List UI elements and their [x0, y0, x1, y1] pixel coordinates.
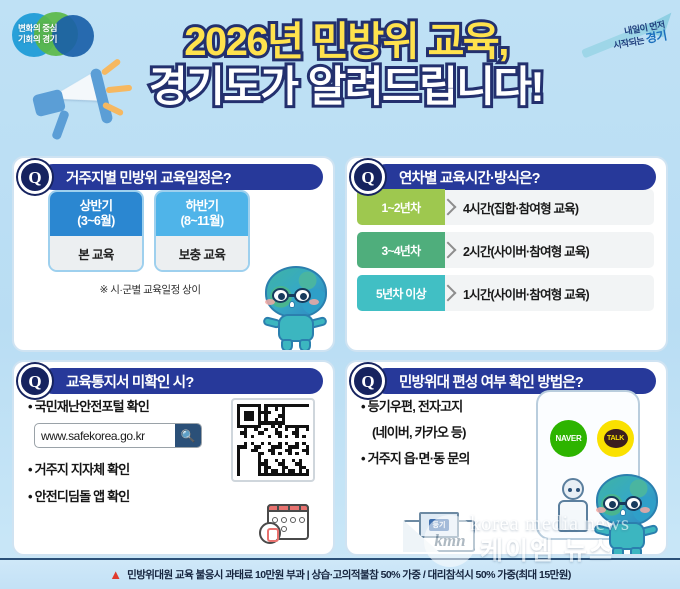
mascot-leg: [630, 547, 642, 556]
question-badge-icon: Q: [351, 160, 385, 194]
mascot-glasses-right: [294, 288, 311, 303]
page-title: 2026년 민방위 교육, 경기도가 알려드립니다!: [118, 22, 574, 112]
mascot-character: [261, 266, 331, 352]
year-tag: 5년차 이상: [357, 275, 445, 311]
logo-text-line2: 기회의 경기: [18, 34, 57, 45]
logo-circle-navy: [52, 15, 94, 57]
year-row: 1~2년차 4시간(집합·참여형 교육): [357, 189, 654, 225]
term-box-second-half: 하반기 (8~11월) 보충 교육: [154, 190, 250, 272]
header: 변화의 중심 기회의 경기 내일이 먼저 시작되는 경기: [0, 0, 680, 150]
mascot-glasses-left: [603, 496, 620, 511]
term-period: (3~6월): [77, 214, 114, 229]
card-note: ※ 시·군별 교육일정 상이: [24, 282, 252, 297]
mascot-leg: [299, 339, 311, 352]
megaphone-icon: [18, 62, 133, 140]
mascot-glasses-left: [272, 288, 289, 303]
question-badge-icon: Q: [18, 160, 52, 194]
title-line-2: 경기도가 알려드립니다!: [118, 66, 574, 108]
mascot-leg: [281, 339, 293, 352]
megaphone-handle: [51, 109, 70, 140]
card-title: 연차별 교육시간·방식은?: [399, 167, 540, 188]
year-desc: 2시간(사이버·참여형 교육): [445, 232, 654, 268]
naver-app-icon: NAVER: [550, 420, 587, 457]
year-desc: 1시간(사이버·참여형 교육): [445, 275, 654, 311]
mascot-blush: [309, 299, 319, 305]
year-tag: 3~4년차: [357, 232, 445, 268]
year-desc: 4시간(집합·참여형 교육): [445, 189, 654, 225]
gyeonggi-slogan: 내일이 먼저 시작되는 경기: [562, 6, 672, 64]
footer-text: 민방위대원 교육 불응시 과태료 10만원 부과 | 상습·고의적불참 50% …: [127, 567, 571, 582]
mascot-glasses-right: [625, 496, 642, 511]
app-icon-row: NAVER TALK: [550, 420, 634, 457]
card-body: • 등기우편, 전자고지 (네이버, 카카오 등) • 거주지 읍·면·동 문의…: [347, 384, 666, 554]
term-period: (8~11월): [180, 214, 223, 229]
mascot-blush: [640, 507, 650, 513]
term-header: 하반기 (8~11월): [156, 192, 248, 236]
calendar-search-icon: [259, 500, 311, 544]
infographic-page: 변화의 중심 기회의 경기 내일이 먼저 시작되는 경기: [0, 0, 680, 589]
calendar-top-bar: [267, 504, 309, 512]
mascot-leg: [612, 547, 624, 556]
term-name: 상반기: [80, 199, 113, 214]
question-badge-label: Q: [28, 169, 41, 186]
mascot-body: [278, 314, 314, 342]
year-row: 3~4년차 2시간(사이버·참여형 교육): [357, 232, 654, 268]
question-badge-label: Q: [361, 373, 374, 390]
mascot-glasses-bridge: [288, 294, 296, 297]
question-badge-label: Q: [28, 373, 41, 390]
question-badge-icon: Q: [18, 364, 52, 398]
slogan-text: 내일이 먼저 시작되는 경기: [610, 19, 667, 51]
person-torso: [558, 500, 588, 532]
qa-card-grid: Q 거주지별 민방위 교육일정은? 상반기 (3~6월) 본 교육: [12, 156, 668, 556]
qa-card-schedule: Q 거주지별 민방위 교육일정은? 상반기 (3~6월) 본 교육: [12, 156, 335, 352]
mascot-nose: [620, 509, 626, 516]
question-badge-icon: Q: [351, 364, 385, 398]
logo-text: 변화의 중심 기회의 경기: [18, 23, 57, 45]
envelope-icon: 등기: [403, 508, 475, 552]
term-row: 상반기 (3~6월) 본 교육 하반기 (8~11월) 보충 교육: [24, 190, 325, 272]
mascot-nose: [289, 301, 295, 308]
search-icon[interactable]: 🔍: [175, 424, 201, 447]
person-illustration: [554, 478, 594, 532]
slogan-accent: 경기: [644, 28, 667, 45]
card-body: • 국민재난안전포털 확인 www.safekorea.go.kr 🔍 • 거주…: [14, 384, 333, 554]
question-badge-label: Q: [361, 169, 374, 186]
term-name: 하반기: [186, 199, 219, 214]
kakaotalk-app-icon: TALK: [597, 420, 634, 457]
term-type: 보충 교육: [156, 236, 248, 270]
gyeonggi-logo: 변화의 중심 기회의 경기: [12, 12, 96, 58]
year-tag: 1~2년차: [357, 189, 445, 225]
card-header: 연차별 교육시간·방식은?: [373, 164, 656, 190]
envelope-flap: [403, 520, 439, 552]
search-input[interactable]: www.safekorea.go.kr 🔍: [34, 423, 202, 448]
mascot-character: [592, 474, 662, 556]
warning-triangle-icon: ▲: [109, 567, 122, 582]
search-value: www.safekorea.go.kr: [35, 424, 175, 447]
term-box-first-half: 상반기 (3~6월) 본 교육: [48, 190, 144, 272]
magnifier-icon: [259, 522, 281, 544]
talk-bubble-label: TALK: [604, 429, 628, 448]
person-head: [562, 478, 584, 500]
mascot-glasses-bridge: [619, 502, 627, 505]
mascot-body: [609, 522, 645, 550]
year-row: 5년차 이상 1시간(사이버·참여형 교육): [357, 275, 654, 311]
qa-card-membership: Q 민방위대 편성 여부 확인 방법은? • 등기우편, 전자고지 (네이버, …: [345, 360, 668, 556]
qr-code-icon: [231, 398, 315, 482]
term-type: 본 교육: [50, 236, 142, 270]
qa-card-hours: Q 연차별 교육시간·방식은? 1~2년차 4시간(집합·참여형 교육) 3~4…: [345, 156, 668, 352]
term-header: 상반기 (3~6월): [50, 192, 142, 236]
qa-card-notice: Q 교육통지서 미확인 시? • 국민재난안전포털 확인 www.safekor…: [12, 360, 335, 556]
title-line-1: 2026년 민방위 교육,: [118, 22, 574, 62]
footer-notice: ▲ 민방위대원 교육 불응시 과태료 10만원 부과 | 상습·고의적불참 50…: [0, 558, 680, 589]
card-body: 1~2년차 4시간(집합·참여형 교육) 3~4년차 2시간(사이버·참여형 교…: [347, 180, 666, 311]
logo-text-line1: 변화의 중심: [18, 23, 57, 34]
